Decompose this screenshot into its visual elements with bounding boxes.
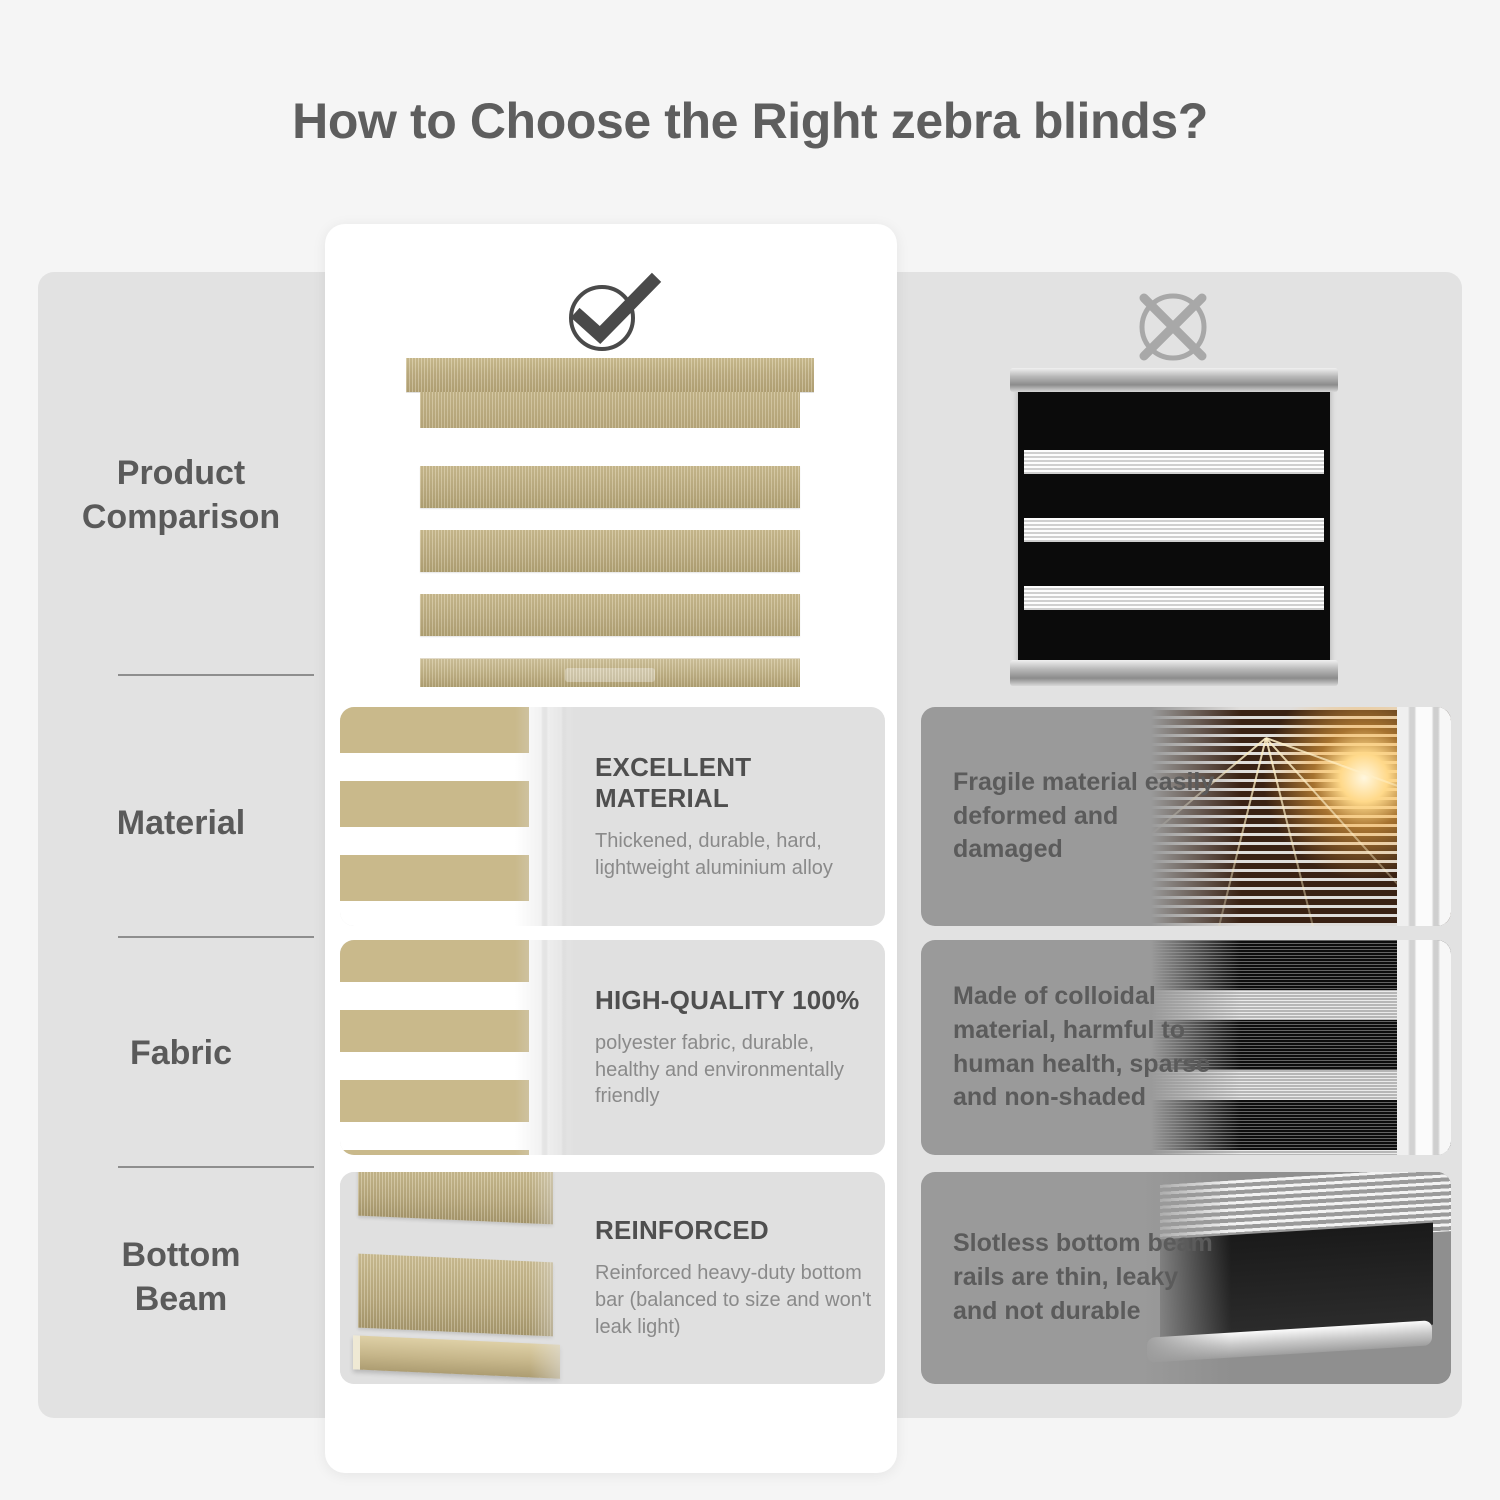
fabric-bad-text: Made of colloidal material, harmful to h… xyxy=(953,940,1221,1155)
feature-title: REINFORCED xyxy=(595,1215,880,1246)
feature-title: EXCELLENT MATERIAL xyxy=(595,752,870,814)
bottom-beam-good-text: REINFORCED Reinforced heavy-duty bottom … xyxy=(595,1172,880,1384)
photo-fade xyxy=(515,707,575,926)
row-divider-2 xyxy=(118,936,314,938)
blind-slat xyxy=(358,1172,553,1224)
hero-good-product-image xyxy=(406,358,814,697)
blind-sheer-stripe xyxy=(1024,450,1324,474)
material-good-text: EXCELLENT MATERIAL Thickened, durable, h… xyxy=(595,707,870,926)
feature-body: Reinforced heavy-duty bottom bar (balanc… xyxy=(595,1260,880,1340)
row-label-material: Material xyxy=(38,802,324,846)
reinforced-bottom-rail xyxy=(353,1335,560,1378)
blind-sheer-stripe xyxy=(1024,518,1324,542)
feature-card-fabric-bad: Made of colloidal material, harmful to h… xyxy=(921,940,1451,1155)
blind-bottom-bar xyxy=(420,658,800,687)
blind-headrail xyxy=(1010,368,1338,392)
bottom-bar-grip xyxy=(565,668,655,682)
blind-slat xyxy=(420,466,800,508)
bottom-beam-bad-text: Slotless bottom beam rails are thin, lea… xyxy=(953,1172,1221,1384)
row-divider-1 xyxy=(118,674,314,676)
feature-title: HIGH-QUALITY 100% xyxy=(595,985,880,1016)
row-label-line1: Material xyxy=(38,802,324,846)
feature-card-material-good: EXCELLENT MATERIAL Thickened, durable, h… xyxy=(340,707,885,926)
blind-top-slat xyxy=(420,392,800,428)
feature-card-material-bad: Fragile material easily deformed and dam… xyxy=(921,707,1451,926)
feature-body: polyester fabric, durable, healthy and e… xyxy=(595,1030,880,1110)
row-label-line1: Fabric xyxy=(38,1032,324,1076)
row-divider-3 xyxy=(118,1166,314,1168)
blind-slat xyxy=(420,530,800,572)
row-label-fabric: Fabric xyxy=(38,1032,324,1076)
photo-fade xyxy=(515,940,575,1155)
feature-card-bottom-beam-good: REINFORCED Reinforced heavy-duty bottom … xyxy=(340,1172,885,1384)
feature-card-bottom-beam-bad: Slotless bottom beam rails are thin, lea… xyxy=(921,1172,1451,1384)
row-label-bottom-beam: Bottom Beam xyxy=(38,1234,324,1321)
feature-negative-text: Slotless bottom beam rails are thin, lea… xyxy=(953,1227,1221,1328)
check-circle-icon xyxy=(556,272,666,358)
material-good-photo xyxy=(340,707,575,926)
photo-fade xyxy=(530,1172,590,1384)
blind-bottom-bar xyxy=(1010,660,1338,686)
fabric-good-photo xyxy=(340,940,575,1155)
feature-negative-text: Fragile material easily deformed and dam… xyxy=(953,766,1223,867)
page-title: How to Choose the Right zebra blinds? xyxy=(0,92,1500,150)
hero-bad-product-image xyxy=(1018,378,1330,674)
row-label-line1: Product xyxy=(38,452,324,496)
row-label-line2: Beam xyxy=(38,1278,324,1322)
bottom-beam-good-photo xyxy=(340,1172,590,1384)
feature-body: Thickened, durable, hard, lightweight al… xyxy=(595,828,870,882)
x-circle-icon xyxy=(1131,285,1215,369)
blind-slat xyxy=(420,594,800,636)
feature-card-fabric-good: HIGH-QUALITY 100% polyester fabric, dura… xyxy=(340,940,885,1155)
white-window-frame xyxy=(1397,707,1451,926)
row-label-line1: Bottom xyxy=(38,1234,324,1278)
fabric-good-text: HIGH-QUALITY 100% polyester fabric, dura… xyxy=(595,940,880,1155)
feature-negative-text: Made of colloidal material, harmful to h… xyxy=(953,980,1221,1115)
row-label-product-comparison: Product Comparison xyxy=(38,452,324,539)
blind-sheer-stripe xyxy=(1024,586,1324,610)
blind-slat xyxy=(358,1254,553,1337)
white-window-frame xyxy=(1397,940,1451,1155)
row-label-column: Product Comparison Material Fabric Botto… xyxy=(38,272,324,1418)
material-bad-text: Fragile material easily deformed and dam… xyxy=(953,707,1223,926)
row-label-line2: Comparison xyxy=(38,496,324,540)
blind-headrail xyxy=(406,358,814,392)
